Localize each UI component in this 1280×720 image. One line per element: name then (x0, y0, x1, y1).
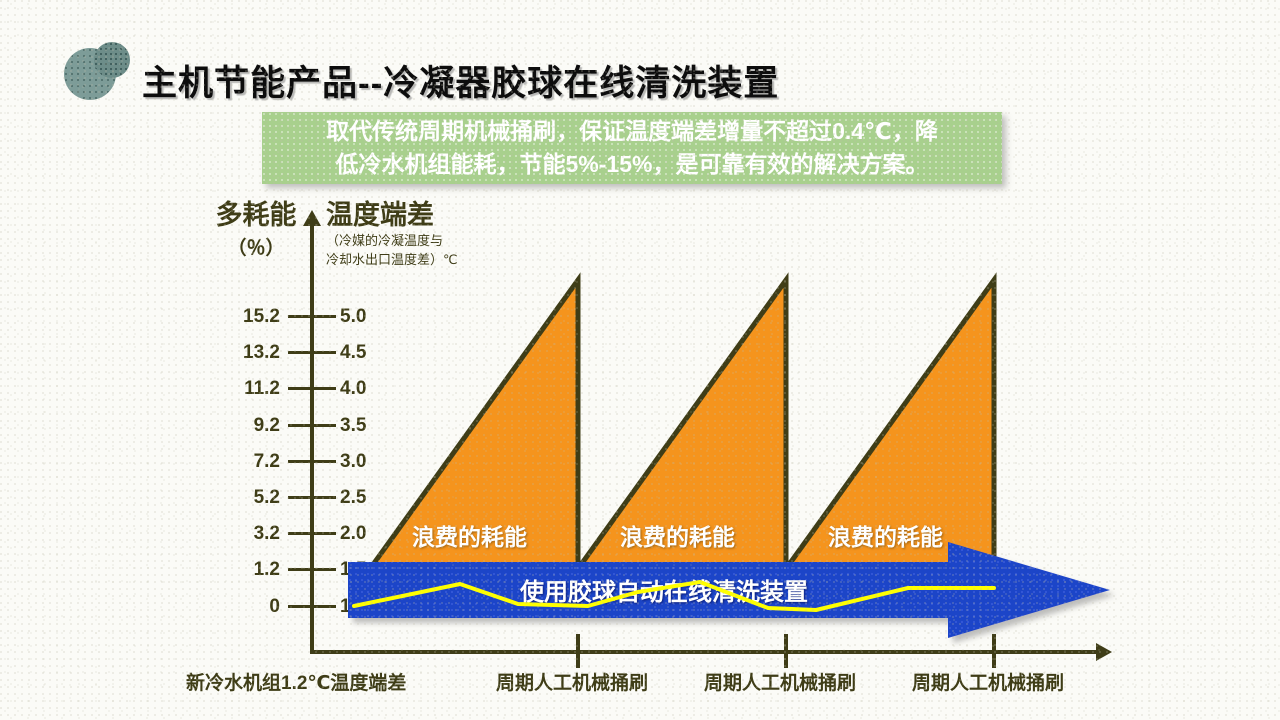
y-axis-left-label-5: 5.2 (210, 487, 280, 509)
y-axis-line (310, 224, 314, 654)
x-axis-arrow-icon (1096, 643, 1112, 661)
waste-energy-label-3: 浪费的耗能 (828, 518, 943, 552)
right-axis-header-title: 温度端差 (326, 200, 458, 230)
y-axis-left-label-0: 15.2 (210, 306, 280, 328)
x-axis-label-0: 新冷水机组1.2℃温度端差 (186, 668, 406, 695)
y-axis-left-label-1: 13.2 (210, 342, 280, 364)
right-axis-header-sub1: （冷媒的冷凝温度与 (326, 232, 458, 249)
y-tick-6 (288, 532, 336, 535)
y-tick-0 (288, 315, 336, 318)
waste-energy-label-1: 浪费的耗能 (412, 518, 527, 552)
temperature-trend-line (348, 556, 1116, 620)
x-axis-label-1: 周期人工机械捅刷 (496, 668, 648, 695)
y-axis-left-label-3: 9.2 (210, 415, 280, 437)
y-axis-left-label-2: 11.2 (210, 378, 280, 400)
y-tick-7 (288, 568, 336, 571)
chart-area: 多耗能 （％） 温度端差 （冷媒的冷凝温度与 冷却水出口温度差）℃ 15.25.… (0, 0, 1280, 720)
y-axis-left-label-8: 0 (210, 596, 280, 618)
x-axis-label-2: 周期人工机械捅刷 (704, 668, 856, 695)
y-tick-1 (288, 351, 336, 354)
y-tick-5 (288, 496, 336, 499)
y-tick-8 (288, 605, 336, 608)
right-axis-header-sub2: 冷却水出口温度差）℃ (326, 251, 458, 268)
left-axis-header: 多耗能 （％） (196, 200, 316, 264)
y-axis-left-label-6: 3.2 (210, 523, 280, 545)
slide-root: 主机节能产品--冷凝器胶球在线清洗装置 取代传统周期机械捅刷，保证温度端差增量不… (0, 0, 1280, 720)
x-tick-3 (992, 634, 996, 668)
y-tick-2 (288, 387, 336, 390)
left-axis-header-unit: （％） (196, 234, 316, 264)
x-axis-line (310, 650, 1100, 654)
x-axis-label-3: 周期人工机械捅刷 (912, 668, 1064, 695)
x-tick-2 (784, 634, 788, 668)
y-axis-left-label-7: 1.2 (210, 559, 280, 581)
y-axis-left-label-4: 7.2 (210, 451, 280, 473)
right-axis-header: 温度端差 （冷媒的冷凝温度与 冷却水出口温度差）℃ (326, 200, 458, 268)
left-axis-header-title: 多耗能 (216, 200, 297, 230)
y-axis-arrow-icon (303, 210, 321, 226)
x-tick-1 (576, 634, 580, 668)
waste-energy-label-2: 浪费的耗能 (620, 518, 735, 552)
y-tick-3 (288, 424, 336, 427)
y-tick-4 (288, 460, 336, 463)
